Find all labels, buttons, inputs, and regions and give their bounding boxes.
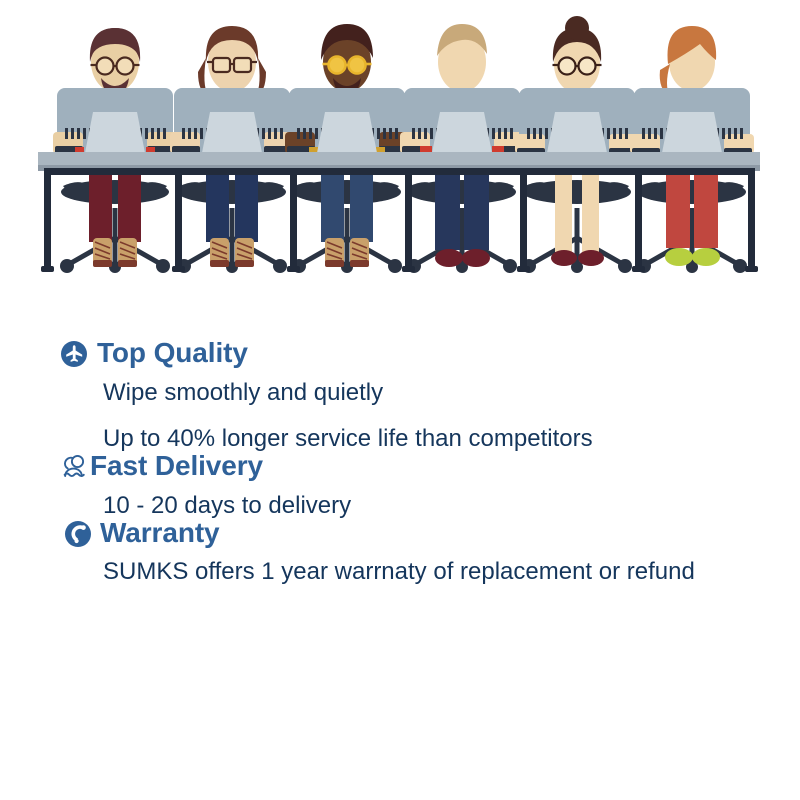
phone-circle-icon — [64, 520, 92, 548]
airplane-circle-icon — [60, 340, 88, 368]
feature-line: Wipe smoothly and quietly — [103, 381, 800, 405]
feature-title: Fast Delivery — [90, 451, 263, 482]
runner-person-icon — [60, 453, 88, 481]
feature-heading-row: Warranty — [0, 518, 800, 549]
feature-heading-row: Top Quality — [0, 338, 800, 369]
feature-list: Top Quality Wipe smoothly and quietly Up… — [0, 310, 800, 584]
feature-body: Wipe smoothly and quietly Up to 40% long… — [0, 381, 800, 451]
feature-title: Top Quality — [97, 338, 248, 369]
feature-block-warranty: Warranty SUMKS offers 1 year warrnaty of… — [0, 518, 800, 585]
workstations — [53, 16, 754, 158]
feature-body: 10 - 20 days to delivery — [0, 494, 800, 518]
feature-block-top-quality: Top Quality Wipe smoothly and quietly Up… — [0, 338, 800, 451]
feature-title: Warranty — [100, 518, 220, 549]
feature-body: SUMKS offers 1 year warrnaty of replacem… — [0, 560, 800, 584]
office-workers-illustration — [0, 0, 800, 300]
feature-block-fast-delivery: Fast Delivery 10 - 20 days to delivery — [0, 451, 800, 518]
feature-line: Up to 40% longer service life than compe… — [103, 427, 800, 451]
feature-heading-row: Fast Delivery — [0, 451, 800, 482]
feature-line: SUMKS offers 1 year warrnaty of replacem… — [103, 560, 800, 584]
product-feature-page: Top Quality Wipe smoothly and quietly Up… — [0, 0, 800, 800]
feature-line: 10 - 20 days to delivery — [103, 494, 800, 518]
